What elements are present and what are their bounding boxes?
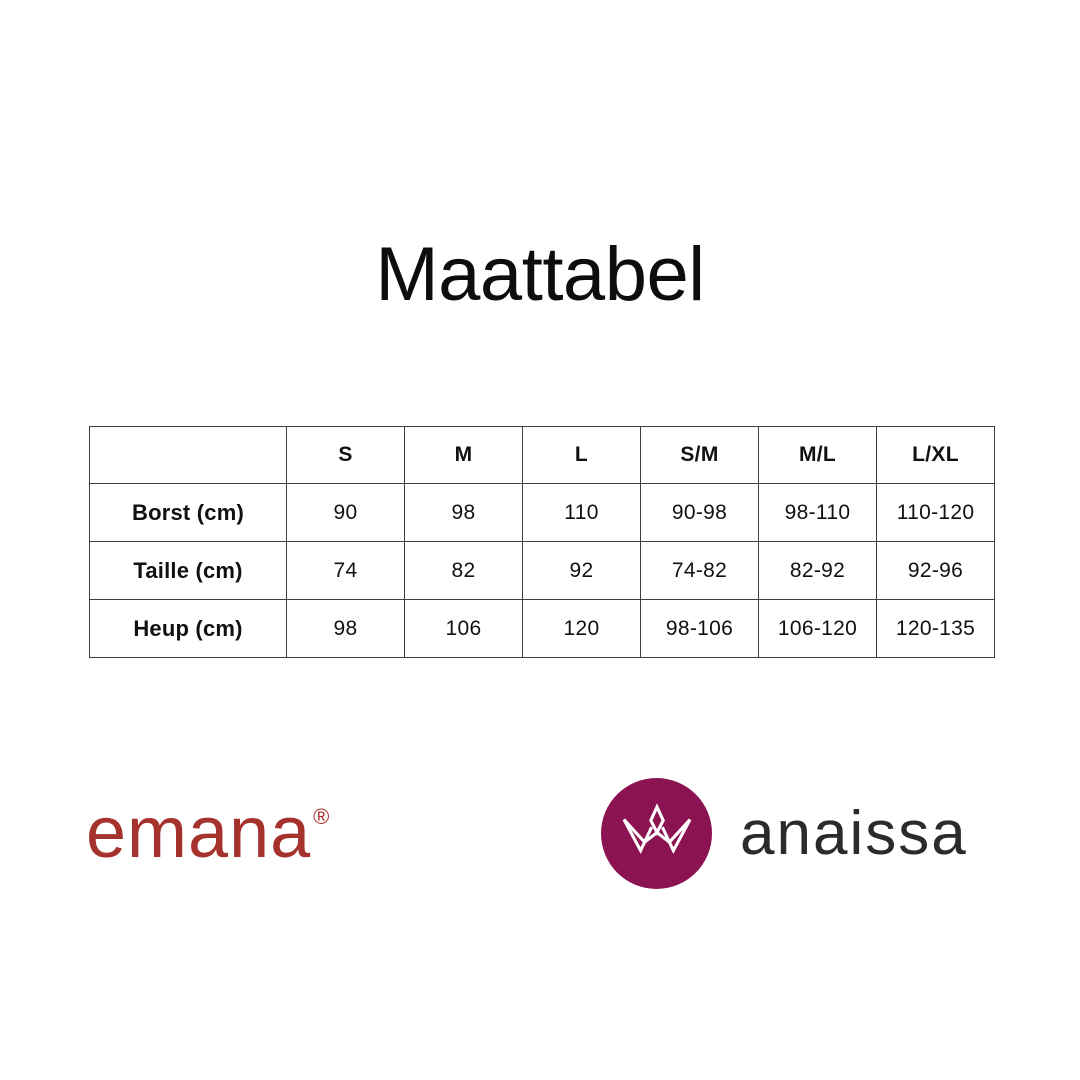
cell-heup-ml: 106-120: [759, 600, 877, 658]
row-label-borst: Borst (cm): [90, 484, 287, 542]
registered-trademark-icon: ®: [313, 806, 329, 828]
size-table: S M L S/M M/L L/XL Borst (cm) 90 98 110 …: [89, 426, 995, 658]
cell-taille-sm: 74-82: [641, 542, 759, 600]
size-table-body: Borst (cm) 90 98 110 90-98 98-110 110-12…: [90, 484, 995, 658]
size-table-head: S M L S/M M/L L/XL: [90, 427, 995, 484]
cell-taille-l: 92: [523, 542, 641, 600]
table-header-row: S M L S/M M/L L/XL: [90, 427, 995, 484]
size-table-container: S M L S/M M/L L/XL Borst (cm) 90 98 110 …: [89, 426, 988, 658]
cell-borst-ml: 98-110: [759, 484, 877, 542]
table-corner-cell: [90, 427, 287, 484]
row-label-heup: Heup (cm): [90, 600, 287, 658]
size-chart-page: Maattabel S M L S/M M/L L/XL Borst (cm) …: [0, 0, 1080, 1080]
page-title: Maattabel: [0, 237, 1080, 313]
column-header-l: L: [523, 427, 641, 484]
row-label-taille: Taille (cm): [90, 542, 287, 600]
anaissa-badge: [601, 778, 712, 889]
cell-taille-s: 74: [287, 542, 405, 600]
cell-heup-lxl: 120-135: [877, 600, 995, 658]
anaissa-wordmark: anaissa: [740, 803, 968, 865]
cell-borst-sm: 90-98: [641, 484, 759, 542]
anaissa-logo: anaissa: [601, 778, 968, 889]
cell-heup-m: 106: [405, 600, 523, 658]
column-header-sm: S/M: [641, 427, 759, 484]
emana-wordmark: emana: [86, 800, 311, 866]
cell-heup-l: 120: [523, 600, 641, 658]
anaissa-crown-icon: [620, 803, 694, 865]
cell-taille-lxl: 92-96: [877, 542, 995, 600]
column-header-m: M: [405, 427, 523, 484]
cell-taille-ml: 82-92: [759, 542, 877, 600]
cell-taille-m: 82: [405, 542, 523, 600]
column-header-ml: M/L: [759, 427, 877, 484]
footer-logos: emana ® anaissa: [0, 778, 1080, 898]
column-header-s: S: [287, 427, 405, 484]
cell-heup-sm: 98-106: [641, 600, 759, 658]
column-header-lxl: L/XL: [877, 427, 995, 484]
table-row: Taille (cm) 74 82 92 74-82 82-92 92-96: [90, 542, 995, 600]
cell-heup-s: 98: [287, 600, 405, 658]
cell-borst-lxl: 110-120: [877, 484, 995, 542]
cell-borst-m: 98: [405, 484, 523, 542]
cell-borst-s: 90: [287, 484, 405, 542]
table-row: Heup (cm) 98 106 120 98-106 106-120 120-…: [90, 600, 995, 658]
table-row: Borst (cm) 90 98 110 90-98 98-110 110-12…: [90, 484, 995, 542]
emana-logo: emana ®: [86, 800, 329, 866]
cell-borst-l: 110: [523, 484, 641, 542]
